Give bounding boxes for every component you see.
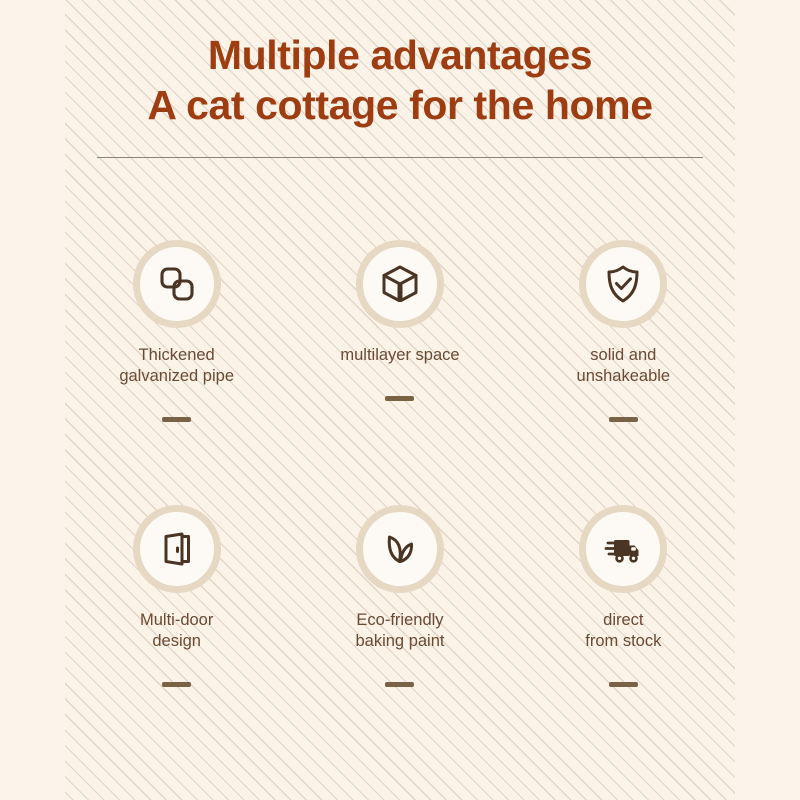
icon-badge [133,505,221,593]
title-divider [97,157,703,158]
feature-dash [609,417,638,422]
icon-badge [579,505,667,593]
page-title: Multiple advantages A cat cottage for th… [0,30,800,130]
feature-grid-row-1: Thickened galvanized pipe multilayer spa… [65,240,735,422]
feature-caption: multilayer space [340,345,459,366]
overlapping-squares-icon [155,262,199,306]
feature-dash [162,417,191,422]
poster-content: Multiple advantages A cat cottage for th… [0,0,800,800]
icon-badge [356,505,444,593]
feature-item: Eco-friendly baking paint [288,505,511,687]
feature-caption: Multi-door design [140,610,213,652]
feature-caption: solid and unshakeable [577,345,671,387]
shield-check-icon [601,262,645,306]
feature-item: multilayer space [288,240,511,422]
feature-dash [162,682,191,687]
feature-dash [609,682,638,687]
feature-dash [385,682,414,687]
cube-box-icon [378,262,422,306]
feature-grid-row-2: Multi-door design Eco-friendly baking pa… [65,505,735,687]
title-line-2: A cat cottage for the home [0,80,800,130]
delivery-truck-icon [601,527,645,571]
feature-dash [385,396,414,401]
feature-item: Multi-door design [65,505,288,687]
feature-item: direct from stock [512,505,735,687]
feature-caption: direct from stock [585,610,661,652]
icon-badge [133,240,221,328]
leaves-eco-icon [378,527,422,571]
feature-item: solid and unshakeable [512,240,735,422]
open-door-icon [155,527,199,571]
icon-badge [356,240,444,328]
icon-badge [579,240,667,328]
poster-canvas: Multiple advantages A cat cottage for th… [0,0,800,800]
feature-caption: Eco-friendly baking paint [355,610,444,652]
feature-item: Thickened galvanized pipe [65,240,288,422]
feature-caption: Thickened galvanized pipe [119,345,234,387]
title-line-1: Multiple advantages [0,30,800,80]
